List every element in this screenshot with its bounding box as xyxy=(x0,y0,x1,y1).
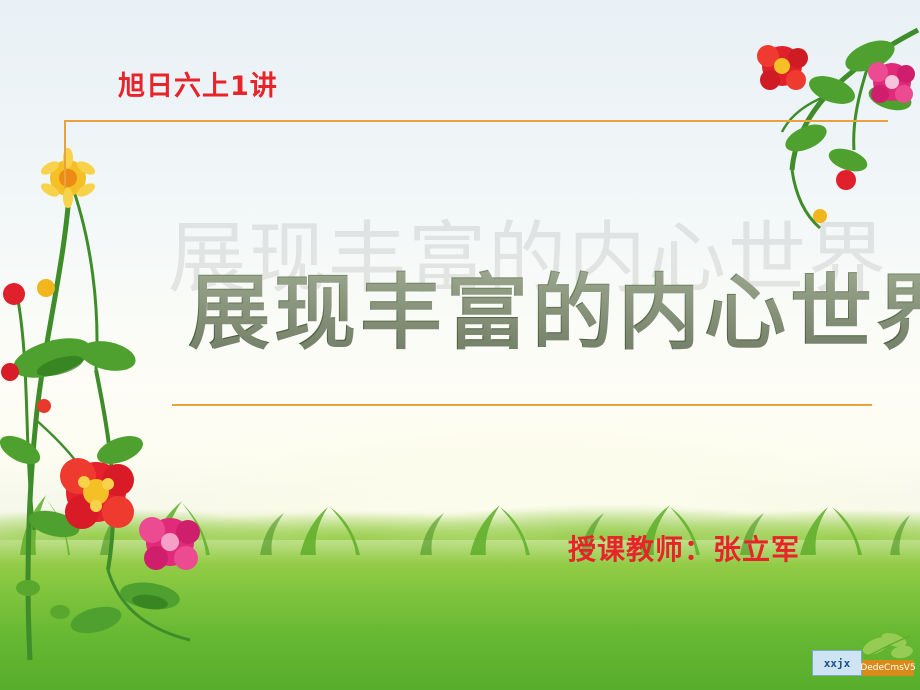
frame-left-line xyxy=(64,120,66,188)
lesson-label: 旭日六上1讲 xyxy=(118,64,278,103)
site-watermark-badge: xxjx xyxy=(812,650,862,676)
page-title: 展现丰富的内心世界 xyxy=(188,246,920,365)
frame-top-line xyxy=(64,120,888,122)
title-underline xyxy=(172,404,872,406)
leaf-watermark-icon xyxy=(862,628,914,662)
cms-watermark-badge: DedeCmsV5 xyxy=(862,660,914,676)
teacher-name: 授课教师：张立军 xyxy=(568,528,800,568)
presentation-slide: 旭日六上1讲 展现丰富的内心世界 展现丰富的内心世界 授课教师：张立军 xxjx… xyxy=(0,0,920,690)
